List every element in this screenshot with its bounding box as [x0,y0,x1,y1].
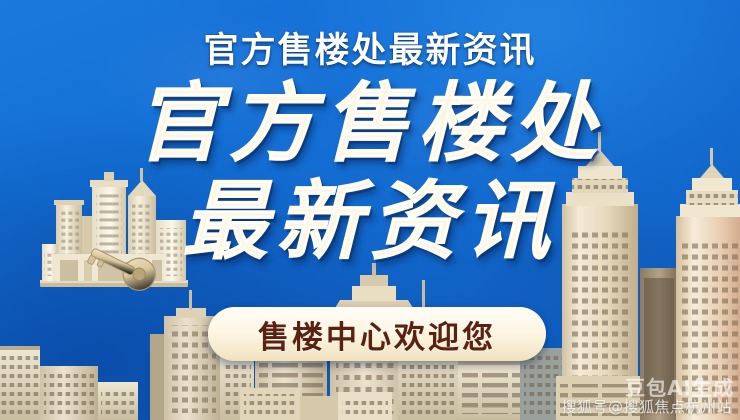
midrise-building-icon [40,366,138,420]
poster-top-title: 官方售楼处最新资讯 [0,22,740,73]
channel-watermark: 搜狐号@搜狐焦点杭州站 [561,396,732,417]
headline-line-2: 最新资讯 [0,176,740,268]
headline-line-1: 官方售楼处 [0,78,740,170]
cta-button[interactable]: 售楼中心欢迎您 [208,307,546,361]
cta-button-label: 售楼中心欢迎您 [258,312,496,357]
midrise-building-icon [0,346,40,420]
poster-canvas: 官方售楼处最新资讯 官方售楼处 最新资讯 售楼中心欢迎您 豆包AI生成 搜狐号@… [0,0,740,420]
